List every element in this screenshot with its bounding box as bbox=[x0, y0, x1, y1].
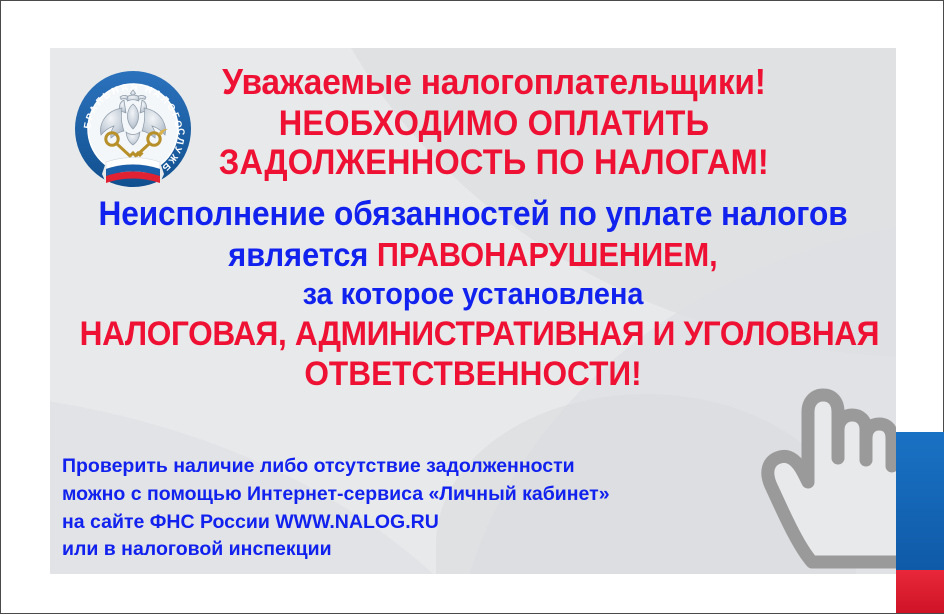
headline-line-7: НАЛОГОВАЯ, АДМИНИСТРАТИВНАЯ И УГОЛОВНАЯ bbox=[80, 317, 867, 352]
headline-line-5-blue: является bbox=[228, 236, 377, 273]
headline-line-5-red: ПРАВОНАРУШЕНИЕМ, bbox=[377, 236, 718, 273]
poster-canvas: ФЕДЕРАЛЬНАЯ НАЛОГОВАЯ СЛУЖБА bbox=[0, 0, 945, 615]
info-block: Проверить наличие либо отсутствие задолж… bbox=[62, 453, 622, 564]
headline-line-1: Уважаемые налогоплательщики! bbox=[80, 64, 867, 101]
info-line-1: Проверить наличие либо отсутствие задолж… bbox=[62, 453, 622, 481]
russian-flag-stripe bbox=[896, 432, 944, 613]
flag-stripe-red bbox=[896, 570, 944, 613]
info-line-2: можно с помощью Интернет-сервиса «Личный… bbox=[62, 481, 622, 509]
pointing-hand-icon bbox=[750, 384, 896, 574]
headline-block: Уважаемые налогоплательщики! НЕОБХОДИМО … bbox=[50, 64, 896, 391]
headline-line-8: ОТВЕТСТВЕННОСТИ! bbox=[80, 357, 867, 392]
headline-line-4: Неисполнение обязанностей по уплате нало… bbox=[80, 197, 867, 232]
headline-line-6: за которое установлена bbox=[80, 278, 867, 310]
flag-stripe-blue bbox=[896, 432, 944, 570]
poster-panel: ФЕДЕРАЛЬНАЯ НАЛОГОВАЯ СЛУЖБА bbox=[50, 48, 896, 574]
headline-line-5: является ПРАВОНАРУШЕНИЕМ, bbox=[80, 238, 867, 272]
info-line-4: или в налоговой инспекции bbox=[62, 536, 622, 564]
headline-line-2: НЕОБХОДИМО ОПЛАТИТЬ bbox=[80, 106, 867, 142]
headline-line-3: ЗАДОЛЖЕННОСТЬ ПО НАЛОГАМ! bbox=[80, 145, 867, 181]
info-line-3: на сайте ФНС России WWW.NALOG.RU bbox=[62, 509, 622, 537]
